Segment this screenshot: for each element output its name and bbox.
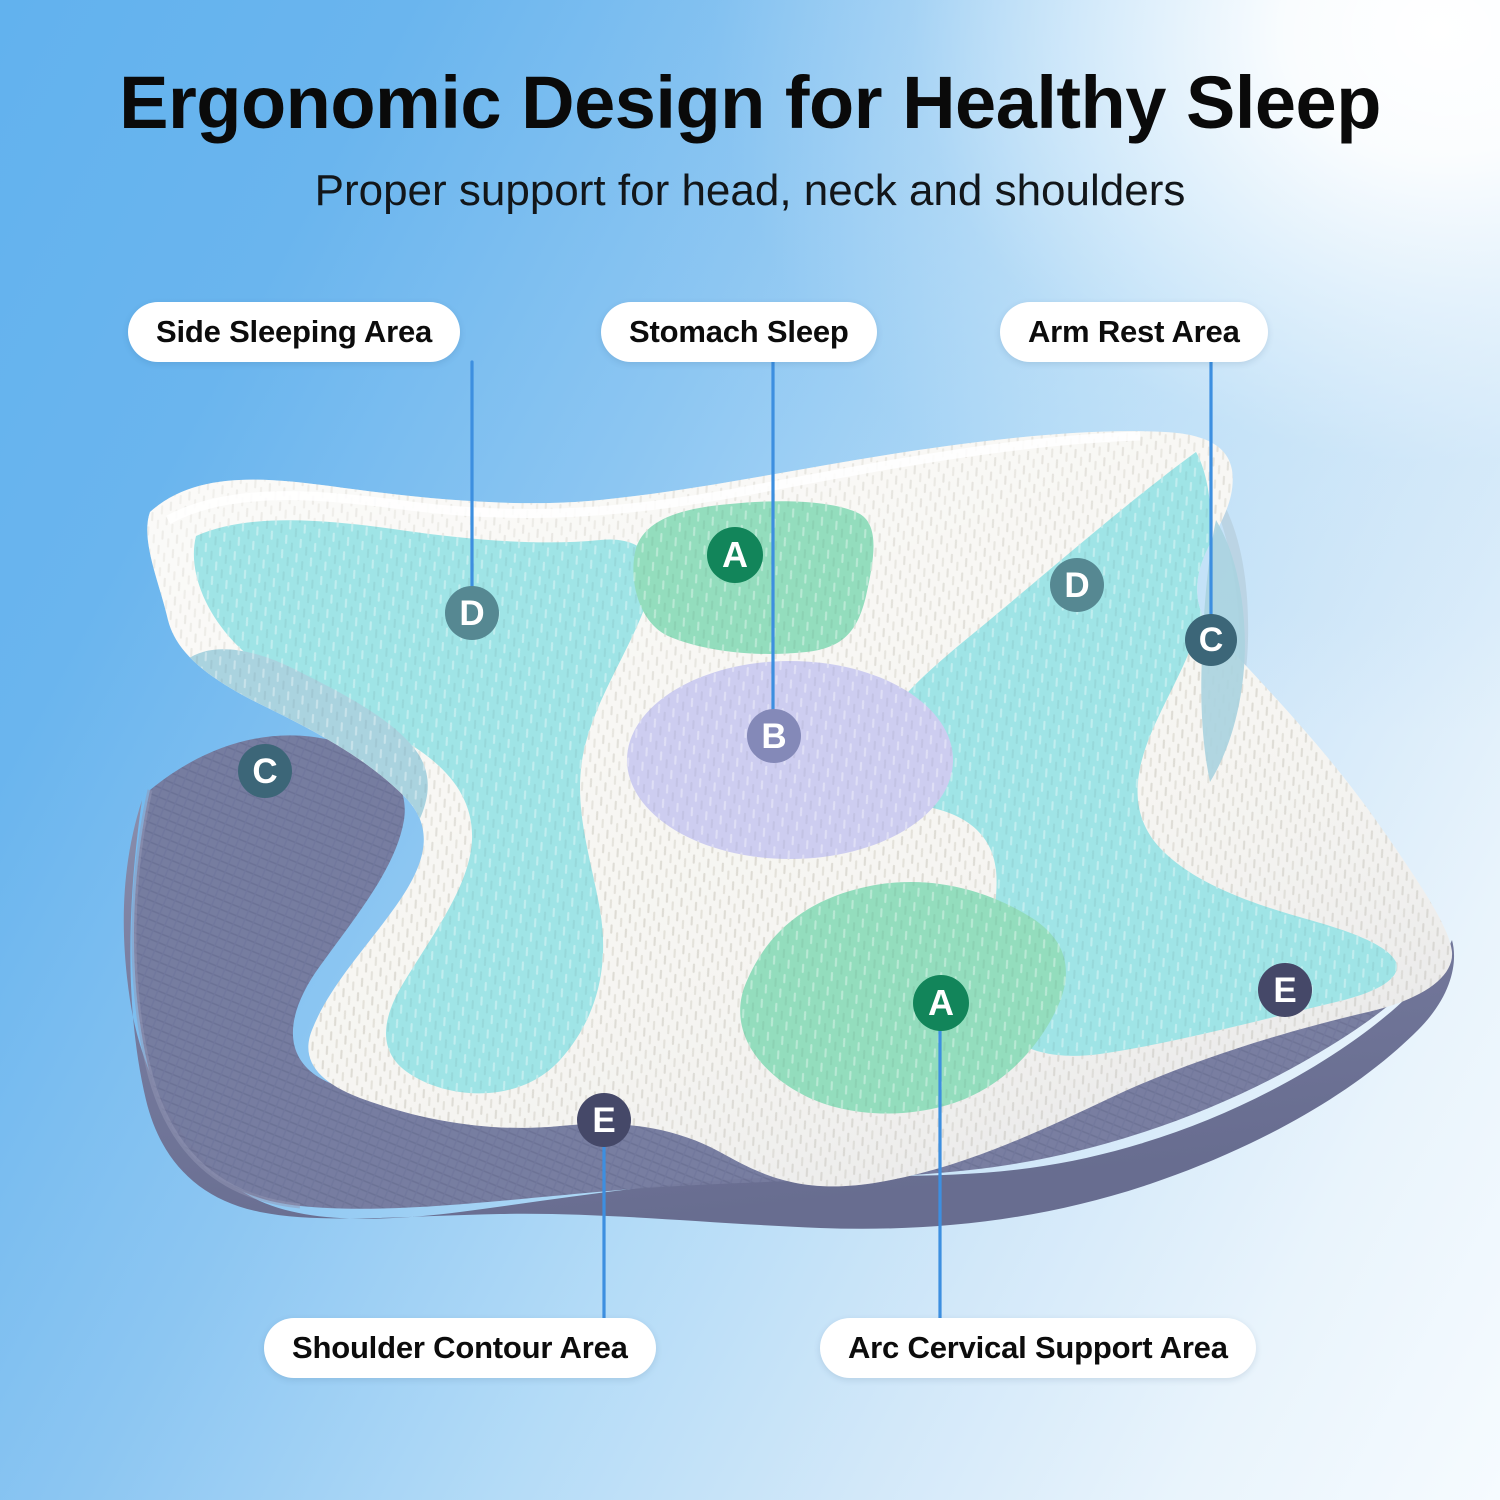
zone-badge-d-left-letter: D — [459, 596, 484, 631]
zone-badge-c-right-letter: C — [1199, 623, 1224, 657]
callout-label-shoulder-contour-area: Shoulder Contour Area — [292, 1330, 628, 1366]
zone-badge-e-right-letter: E — [1273, 973, 1296, 1008]
zone-badge-c-right[interactable]: C — [1185, 614, 1237, 666]
zone-badge-e-left[interactable]: E — [577, 1093, 631, 1147]
zone-badge-b[interactable]: B — [747, 709, 801, 763]
zone-badge-e-right[interactable]: E — [1258, 963, 1312, 1017]
callout-label-side-sleeping-area: Side Sleeping Area — [156, 314, 432, 350]
callout-label-arc-cervical-support-area: Arc Cervical Support Area — [848, 1330, 1228, 1366]
zone-badge-d-right[interactable]: D — [1050, 558, 1104, 612]
callout-label-stomach-sleep: Stomach Sleep — [629, 314, 849, 350]
callout-label-arm-rest-area: Arm Rest Area — [1028, 314, 1240, 350]
callout-shoulder-contour-area[interactable]: Shoulder Contour Area — [264, 1318, 656, 1378]
infographic-canvas: Ergonomic Design for Healthy Sleep Prope… — [0, 0, 1500, 1500]
callout-arm-rest-area[interactable]: Arm Rest Area — [1000, 302, 1268, 362]
zone-badge-d-right-letter: D — [1064, 568, 1089, 603]
zone-a-upper-shape — [633, 501, 873, 654]
zone-badge-c-left[interactable]: C — [238, 744, 292, 798]
zone-badge-b-letter: B — [761, 719, 786, 754]
zone-badge-a-upper-letter: A — [722, 537, 748, 573]
callout-side-sleeping-area[interactable]: Side Sleeping Area — [128, 302, 460, 362]
zone-badge-e-left-letter: E — [592, 1103, 615, 1138]
callout-arc-cervical-support-area[interactable]: Arc Cervical Support Area — [820, 1318, 1256, 1378]
zone-badge-d-left[interactable]: D — [445, 586, 499, 640]
callout-stomach-sleep[interactable]: Stomach Sleep — [601, 302, 877, 362]
zone-badge-a-upper[interactable]: A — [707, 527, 763, 583]
zone-b-shape — [627, 661, 953, 859]
zone-badge-a-lower[interactable]: A — [913, 975, 969, 1031]
zone-badge-a-lower-letter: A — [928, 985, 954, 1021]
zone-badge-c-left-letter: C — [252, 754, 277, 789]
